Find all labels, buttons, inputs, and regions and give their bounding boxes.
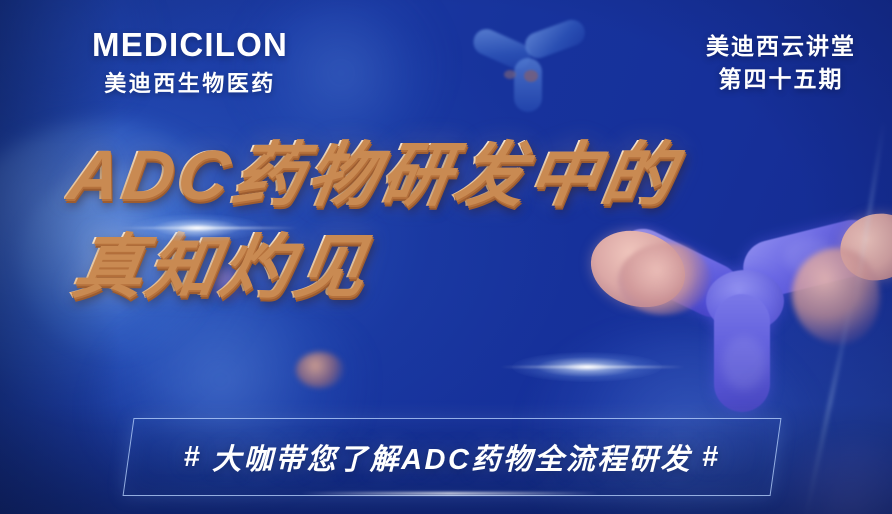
antibody-stem xyxy=(714,294,770,412)
headline-line-1: ADC药物研发中的 xyxy=(62,140,885,210)
frame-highlight xyxy=(300,492,600,495)
antibody-arm xyxy=(521,16,588,62)
antibody-lobe xyxy=(722,336,766,390)
antibody-stem xyxy=(514,58,542,112)
conjugate-payload-icon xyxy=(524,70,538,82)
molecule-cluster-icon xyxy=(770,440,892,514)
brand-name-cn: 美迪西生物医药 xyxy=(64,66,316,98)
conjugate-payload-icon xyxy=(504,70,516,79)
series-label: 美迪西云讲堂 第四十五期 xyxy=(706,30,856,95)
brand-logo: MEDICILON 美迪西生物医药 xyxy=(64,28,316,98)
subtitle-text: # 大咖带您了解ADC药物全流程研发 # xyxy=(128,418,776,496)
lens-flare-icon xyxy=(118,227,298,229)
headline-line-2: 真知灼见 xyxy=(66,232,885,302)
subtitle-body: 大咖带您了解ADC药物全流程研发 xyxy=(212,436,692,478)
light-streak-icon xyxy=(802,302,853,514)
hash-right: # xyxy=(702,441,721,474)
webinar-promo-banner: MEDICILON 美迪西生物医药 美迪西云讲堂 第四十五期 ADC药物研发中的… xyxy=(0,0,892,514)
hash-left: # xyxy=(183,441,202,474)
series-line-1: 美迪西云讲堂 xyxy=(706,30,856,63)
antibody-molecule-icon xyxy=(468,18,588,126)
series-line-2: 第四十五期 xyxy=(706,63,856,96)
antibody-arm xyxy=(469,25,534,73)
lens-flare-icon xyxy=(500,366,685,368)
conjugate-payload-icon xyxy=(296,352,344,388)
headline-block: ADC药物研发中的 真知灼见 xyxy=(62,140,874,302)
brand-name-en: MEDICILON xyxy=(64,28,316,63)
